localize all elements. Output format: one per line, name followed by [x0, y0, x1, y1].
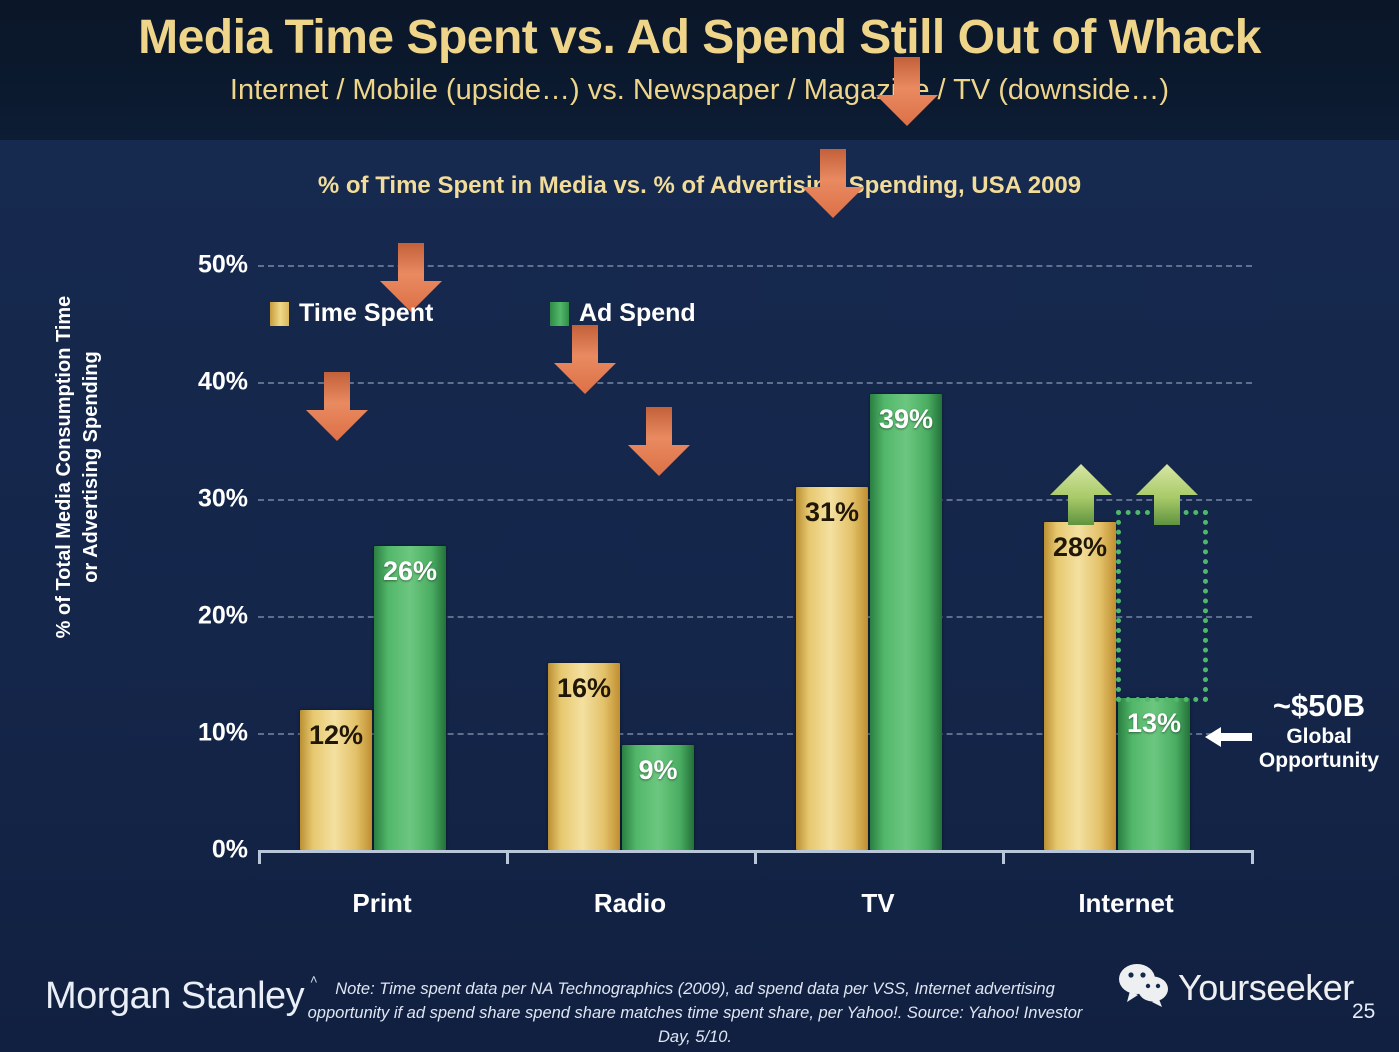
slide-root: Media Time Spent vs. Ad Spend Still Out …: [0, 0, 1399, 1052]
bar-print-ad-spend[interactable]: 26%: [374, 546, 446, 850]
bar-radio-ad-spend[interactable]: 9%: [622, 745, 694, 850]
y-tick-50: 50%: [158, 251, 248, 280]
up-arrow-internet-time-spent: [1048, 464, 1114, 526]
x-axis-tick-start: [258, 850, 261, 864]
wechat-icon: [1118, 962, 1172, 1013]
bar-internet-time-spent[interactable]: 28%: [1044, 522, 1116, 850]
x-label-internet: Internet: [1002, 888, 1250, 919]
x-axis-tick-1: [506, 850, 509, 864]
gridline-40: [258, 382, 1252, 384]
morgan-stanley-logo: Morgan Stanley: [45, 975, 304, 1018]
y-axis-title-line1: % of Total Media Consumption Time: [53, 296, 75, 639]
bar-label-print-ad-spend: 26%: [374, 556, 446, 587]
bar-label-tv-ad-spend: 39%: [870, 404, 942, 435]
bar-radio-time-spent[interactable]: 16%: [548, 663, 620, 850]
y-tick-30: 30%: [158, 485, 248, 514]
bar-print-time-spent[interactable]: 12%: [300, 710, 372, 850]
down-arrow-tv-time-spent: [800, 149, 866, 219]
bar-label-print-time-spent: 12%: [300, 720, 372, 751]
slide-header: Media Time Spent vs. Ad Spend Still Out …: [0, 0, 1399, 140]
opportunity-callout: ~$50B Global Opportunity: [1244, 688, 1394, 774]
watermark-text: Yourseeker: [1178, 967, 1354, 1009]
bar-tv-ad-spend[interactable]: 39%: [870, 394, 942, 850]
x-label-print: Print: [258, 888, 506, 919]
x-axis-tick-end: [1251, 850, 1254, 864]
bar-label-radio-ad-spend: 9%: [622, 755, 694, 786]
bar-label-internet-ad-spend: 13%: [1118, 708, 1190, 739]
slide-subtitle: Internet / Mobile (upside…) vs. Newspape…: [0, 74, 1399, 107]
down-arrow-radio-ad-spend: [626, 407, 692, 477]
legend-item-ad-spend[interactable]: Ad Spend: [550, 299, 696, 328]
callout-line1: Global: [1244, 725, 1394, 750]
up-arrow-internet-ad-spend: [1134, 464, 1200, 526]
y-axis-tick-labels: 50% 40% 30% 20% 10% 0%: [148, 265, 248, 851]
legend-label-ad-spend: Ad Spend: [579, 299, 696, 328]
x-label-tv: TV: [754, 888, 1002, 919]
bar-label-tv-time-spent: 31%: [796, 497, 868, 528]
down-arrow-tv-ad-spend: [874, 57, 940, 127]
y-axis-title-line2: or Advertising Spending: [80, 351, 102, 583]
legend-swatch-time-spent: [270, 302, 289, 326]
legend-item-time-spent[interactable]: Time Spent: [270, 299, 433, 328]
legend-swatch-ad-spend: [550, 302, 569, 326]
slide-body: % of Time Spent in Media vs. % of Advert…: [0, 140, 1399, 1052]
x-label-radio: Radio: [506, 888, 754, 919]
bar-internet-ad-spend[interactable]: 13%: [1118, 698, 1190, 850]
callout-line2: Opportunity: [1244, 749, 1394, 774]
footnote-line2: spend share matches time spent share, pe…: [525, 1004, 1082, 1046]
y-tick-10: 10%: [158, 719, 248, 748]
down-arrow-print-time-spent: [304, 372, 370, 442]
page-number: 25: [1352, 1000, 1375, 1024]
y-tick-20: 20%: [158, 602, 248, 631]
bar-label-radio-time-spent: 16%: [548, 673, 620, 704]
x-axis-tick-2: [754, 850, 757, 864]
bar-tv-time-spent[interactable]: 31%: [796, 487, 868, 850]
watermark: Yourseeker: [1118, 962, 1354, 1013]
slide-title: Media Time Spent vs. Ad Spend Still Out …: [0, 10, 1399, 65]
x-axis-tick-3: [1002, 850, 1005, 864]
callout-amount: ~$50B: [1244, 688, 1394, 725]
legend-label-time-spent: Time Spent: [299, 299, 433, 328]
y-tick-0: 0%: [158, 836, 248, 865]
y-tick-40: 40%: [158, 368, 248, 397]
down-arrow-radio-time-spent: [552, 325, 618, 395]
y-axis-title: % of Total Media Consumption Time or Adv…: [51, 207, 105, 727]
bar-label-internet-time-spent: 28%: [1044, 532, 1116, 563]
plot-area: 12% 26% 16% 9% 31% 39% 28%: [258, 265, 1252, 850]
opportunity-gap-box: [1116, 510, 1208, 702]
footnote: Note: Time spent data per NA Technograph…: [300, 978, 1090, 1050]
